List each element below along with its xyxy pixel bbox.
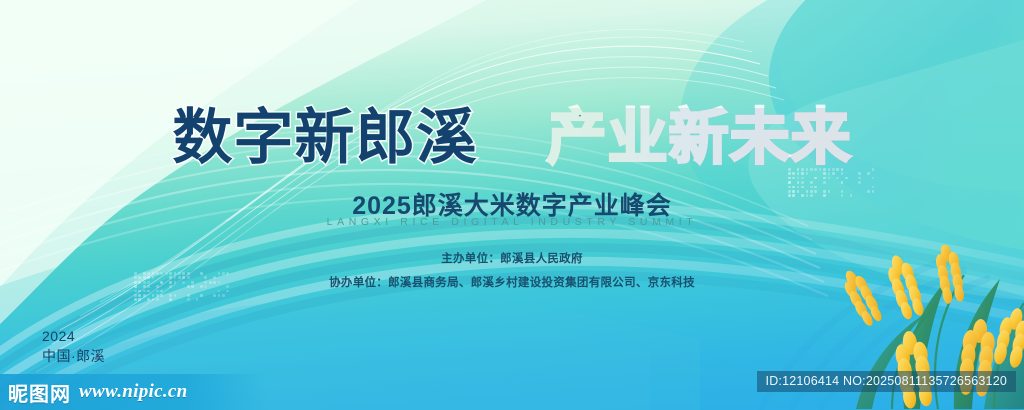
nipic-logo: 昵图网 xyxy=(8,378,71,407)
nipic-url: www.nipic.cn xyxy=(79,381,187,403)
page-title: 数字新郎溪 产业新未来 xyxy=(0,108,1024,168)
event-location-block: 2024 中国·郎溪 xyxy=(42,326,105,367)
event-place: 中国·郎溪 xyxy=(42,346,105,366)
watermark-id-text: ID:12106414 NO:20250811135726563120 xyxy=(757,371,1016,392)
headline-primary: 数字新郎溪 xyxy=(172,108,477,168)
poster-canvas: 数字新郎溪 产业新未来 2025郎溪大米数字产业峰会 LANGXI RICE D… xyxy=(0,0,1024,410)
event-year: 2024 xyxy=(42,326,105,346)
subtitle-english: LANGXI RICE DIGITAL INDUSTRY SUMMIT xyxy=(0,216,1024,228)
poster-content: 数字新郎溪 产业新未来 2025郎溪大米数字产业峰会 LANGXI RICE D… xyxy=(0,0,1024,410)
watermark-bar: 昵图网 www.nipic.cn xyxy=(0,374,268,410)
headline-secondary: 产业新未来 xyxy=(547,108,852,168)
